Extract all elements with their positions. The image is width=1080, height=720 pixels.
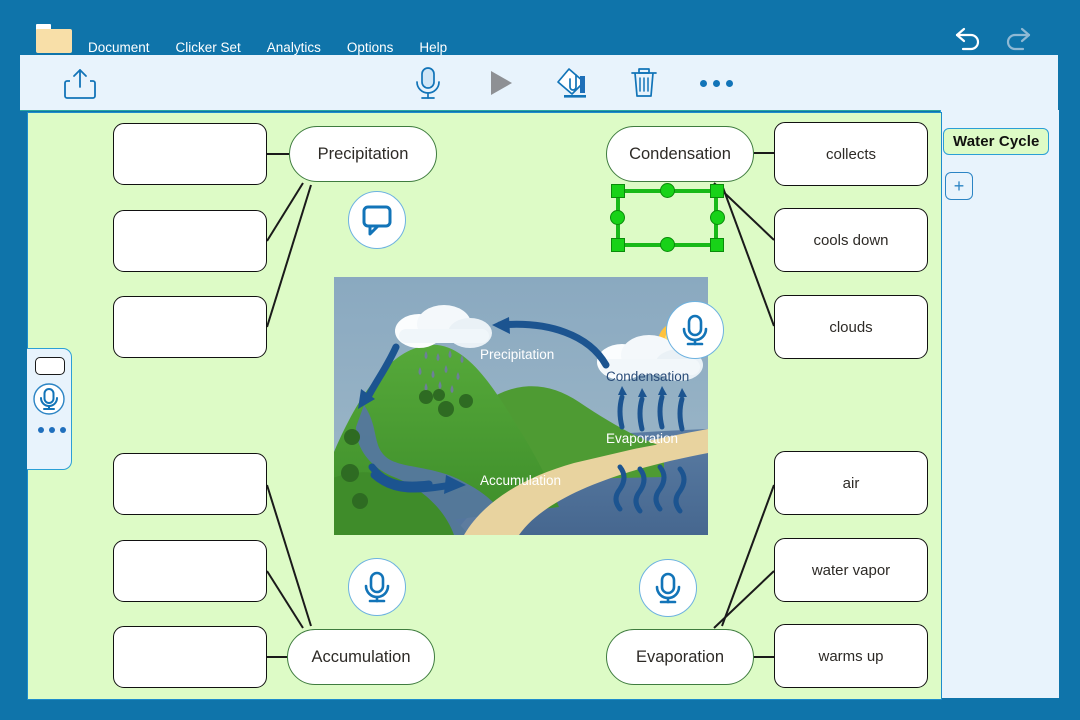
play-button[interactable] [477, 63, 523, 103]
microphone-badge-condensation-selected[interactable] [666, 301, 724, 359]
cell-context-toolbar [27, 348, 72, 470]
pill-precipitation[interactable]: Precipitation [289, 126, 437, 182]
microphone-badge-evaporation[interactable] [639, 559, 697, 617]
play-triangle-icon [483, 66, 517, 100]
label-evaporation: Evaporation [606, 431, 678, 446]
microphone-icon [360, 570, 394, 604]
selection-handle-middle-right[interactable] [710, 210, 725, 225]
microphone-icon [678, 313, 712, 347]
empty-cell-2[interactable] [113, 210, 267, 272]
ellipsis-icon[interactable] [38, 427, 66, 433]
label-accumulation: Accumulation [480, 473, 561, 488]
tab-water-cycle[interactable]: Water Cycle [943, 128, 1049, 155]
microphone-icon [408, 63, 448, 103]
undo-arrow-icon[interactable] [952, 22, 986, 52]
selection-handle-top-right[interactable] [710, 184, 724, 198]
folder-icon[interactable] [36, 24, 72, 53]
document-canvas[interactable]: Precipitation Condensation Evaporation A… [27, 112, 942, 700]
app-window: Document Clicker Set Analytics Options H… [0, 0, 1080, 720]
word-cell-clouds[interactable]: clouds [774, 295, 928, 359]
delete-button[interactable] [621, 63, 667, 103]
selection-handle-bottom-left[interactable] [611, 238, 625, 252]
paint-style-button[interactable] [549, 63, 595, 103]
empty-cell-1[interactable] [113, 123, 267, 185]
record-microphone-button[interactable] [405, 63, 451, 103]
empty-cell-6[interactable] [113, 626, 267, 688]
folder-icon-body [36, 29, 72, 53]
toolbar [20, 55, 1058, 111]
cell-shape-icon[interactable] [35, 357, 65, 375]
selection-handle-top-left[interactable] [611, 184, 625, 198]
water-cycle-illustration[interactable]: Precipitation Condensation Evaporation A… [334, 277, 708, 535]
selection-handle-top-center[interactable] [660, 183, 675, 198]
share-upload-icon[interactable] [60, 65, 100, 103]
pill-accumulation[interactable]: Accumulation [287, 629, 435, 685]
word-cell-warms-up[interactable]: warms up [774, 624, 928, 688]
speech-bubble-icon [360, 203, 394, 237]
word-cell-water-vapor[interactable]: water vapor [774, 538, 928, 602]
paint-fill-icon [553, 64, 591, 102]
word-cell-cools-down[interactable]: cools down [774, 208, 928, 272]
pill-evaporation[interactable]: Evaporation [606, 629, 754, 685]
more-options-button[interactable] [693, 63, 739, 103]
empty-cell-3[interactable] [113, 296, 267, 358]
menu-bar: Document Clicker Set Analytics Options H… [0, 0, 1080, 62]
label-precipitation: Precipitation [480, 347, 554, 362]
microphone-badge-accumulation[interactable] [348, 558, 406, 616]
microphone-icon[interactable] [32, 382, 66, 416]
empty-cell-5[interactable] [113, 540, 267, 602]
word-cell-collects[interactable]: collects [774, 122, 928, 186]
microphone-icon [651, 571, 685, 605]
empty-cell-4[interactable] [113, 453, 267, 515]
selection-handle-middle-left[interactable] [610, 210, 625, 225]
trash-icon [627, 64, 661, 102]
selection-handle-bottom-center[interactable] [660, 237, 675, 252]
word-cell-air[interactable]: air [774, 451, 928, 515]
undo-redo-group [952, 22, 1034, 52]
add-page-button[interactable]: + [945, 172, 973, 200]
label-condensation: Condensation [606, 369, 689, 384]
redo-arrow-icon[interactable] [1000, 22, 1034, 52]
toolbar-center-buttons [405, 63, 739, 103]
selection-frame[interactable] [611, 184, 724, 252]
ellipsis-icon [700, 80, 733, 87]
selection-handle-bottom-right[interactable] [710, 238, 724, 252]
pill-condensation[interactable]: Condensation [606, 126, 754, 182]
speech-bubble-badge[interactable] [348, 191, 406, 249]
